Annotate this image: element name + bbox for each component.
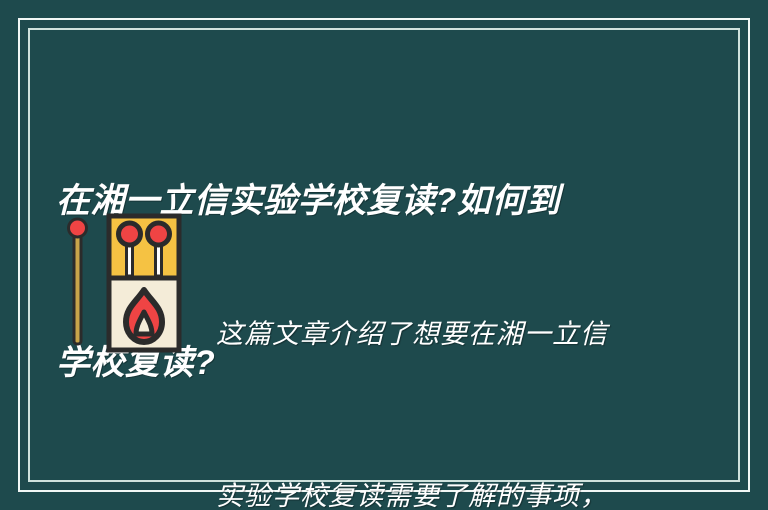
article-cover-card: 在湘一立信实验学校复读?如何到 学校复读? <box>0 0 768 510</box>
article-summary-text: 这篇文章介绍了想要在湘一立信 实验学校复读需要了解的事项， 包括到学校的交通方式… <box>216 200 712 510</box>
matchbox-front-panel <box>109 278 179 350</box>
loose-match-icon <box>69 219 87 344</box>
summary-line-2: 实验学校复读需要了解的事项， <box>216 470 712 510</box>
matchbox-tray <box>109 216 179 278</box>
matchbox-icon <box>56 200 216 358</box>
summary-line-1: 这篇文章介绍了想要在湘一立信 <box>216 308 712 362</box>
content-row: 这篇文章介绍了想要在湘一立信 实验学校复读需要了解的事项， 包括到学校的交通方式… <box>56 200 712 510</box>
